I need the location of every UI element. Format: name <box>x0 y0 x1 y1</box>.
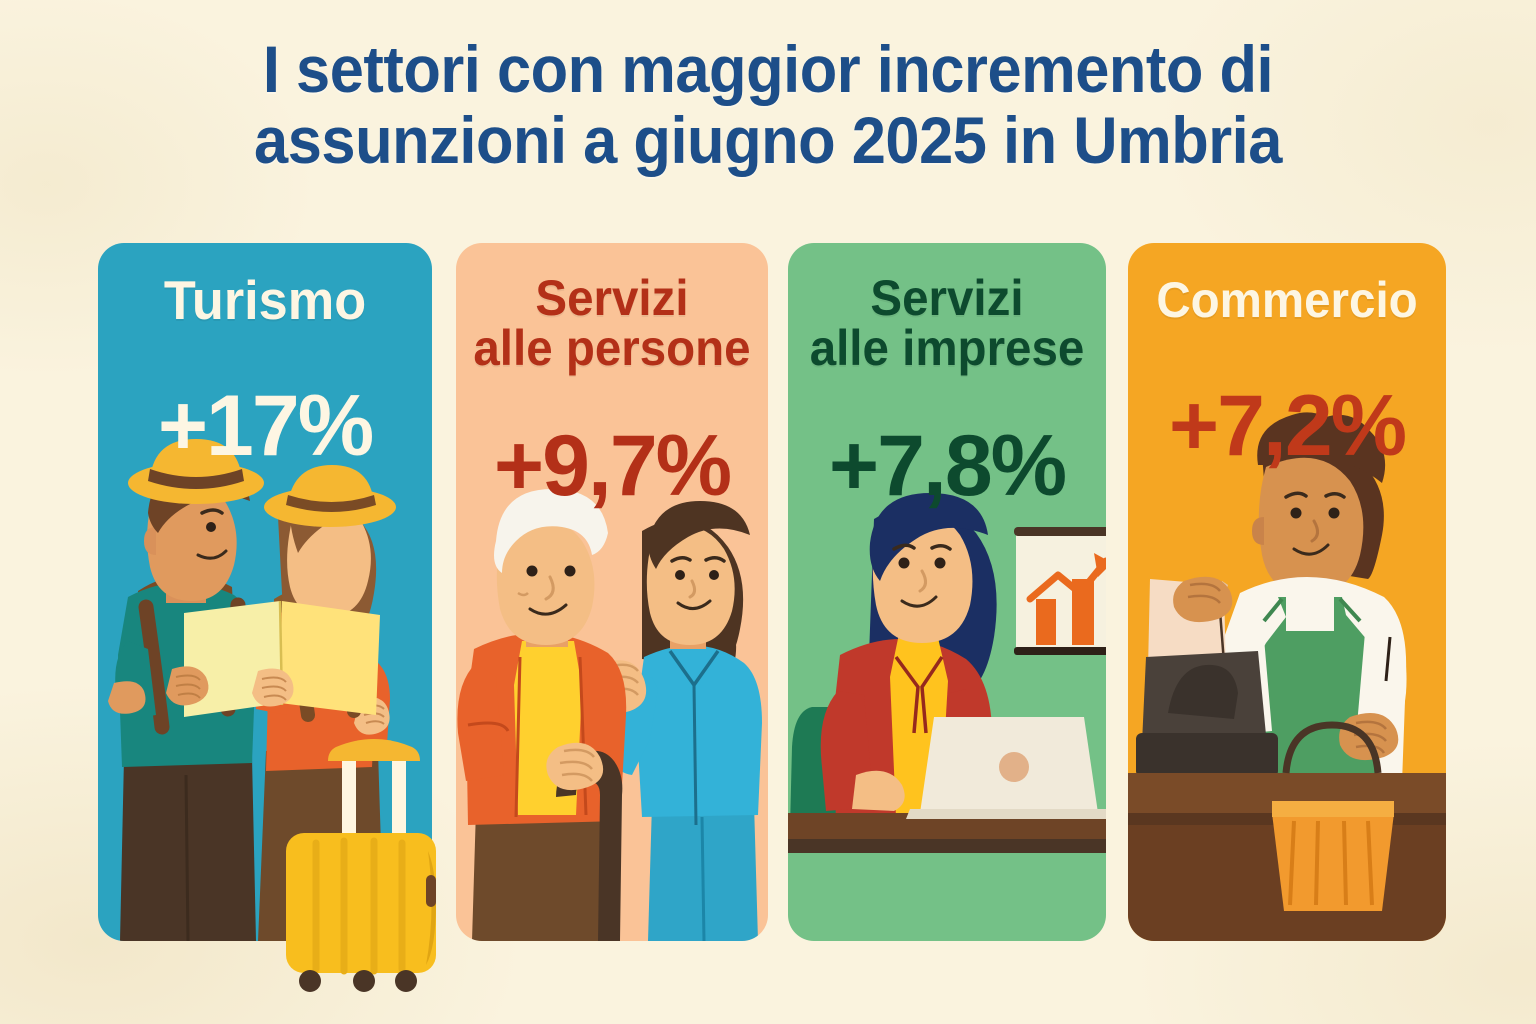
page-title: I settori con maggior incremento di assu… <box>54 34 1482 177</box>
sector-card-servizi-alle-imprese[interactable]: Servizi alle imprese +7,8% <box>788 243 1106 941</box>
card-label-line: alle imprese <box>796 323 1098 373</box>
card-value-turismo: +17% <box>98 383 432 469</box>
card-label-line: Commercio <box>1136 275 1438 325</box>
sector-card-turismo[interactable]: Turismo +17% <box>98 243 432 941</box>
card-label-line: Servizi <box>464 273 760 323</box>
page-title-line-1: I settori con maggior incremento di <box>119 34 1417 105</box>
card-label-line: Servizi <box>796 273 1098 323</box>
sector-card-deck: Turismo +17% <box>98 243 1446 941</box>
card-label-line: alle persone <box>464 323 760 373</box>
card-label-turismo: Turismo <box>106 273 423 328</box>
sector-card-servizi-alle-persone[interactable]: Servizi alle persone +9,7% <box>456 243 768 941</box>
caregiver-elderly-illustration <box>456 471 768 941</box>
businesswoman-desk-illustration <box>788 491 1106 941</box>
card-label-commercio: Commercio <box>1136 275 1438 325</box>
suitcase-illustration <box>280 747 440 997</box>
card-clip-commercio <box>1128 243 1446 941</box>
card-value-commercio: +7,2% <box>1128 383 1446 469</box>
card-label-servizi-alle-imprese: Servizi alle imprese <box>796 273 1098 373</box>
page-title-line-2: assunzioni a giugno 2025 in Umbria <box>119 105 1417 176</box>
sector-card-commercio[interactable]: Commercio +7,2% <box>1128 243 1446 941</box>
card-value-servizi-alle-imprese: +7,8% <box>788 423 1106 509</box>
card-label-line: Turismo <box>106 273 423 328</box>
cashier-shop-illustration <box>1128 421 1446 941</box>
card-label-servizi-alle-persone: Servizi alle persone <box>464 273 760 373</box>
card-value-servizi-alle-persone: +9,7% <box>456 423 768 509</box>
